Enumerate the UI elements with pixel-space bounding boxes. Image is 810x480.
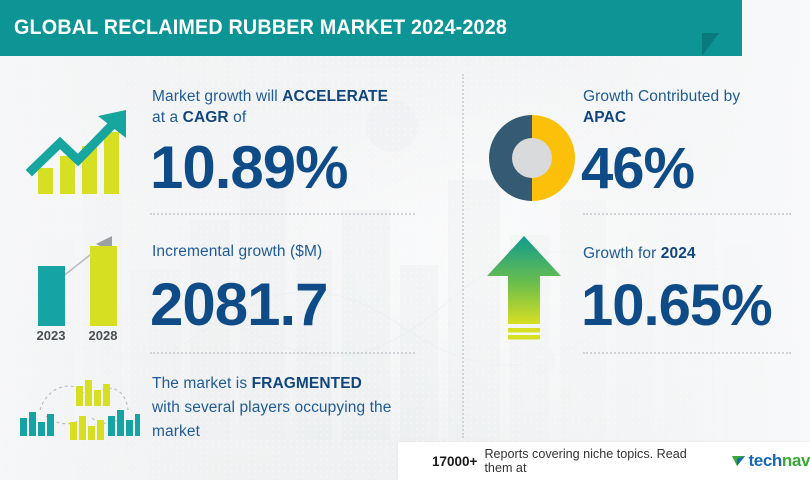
cagr-caption-line2-tail: of	[229, 109, 247, 126]
up-arrow-gradient-icon	[483, 232, 565, 342]
cagr-value: 10.89%	[150, 138, 348, 198]
apac-caption-bold: APAC	[583, 109, 626, 126]
fragmented-caption: The market is FRAGMENTED with several pl…	[152, 372, 452, 444]
divider-left-lower	[150, 352, 415, 354]
incremental-caption: Incremental growth ($M)	[152, 241, 442, 262]
growth2024-value: 10.65%	[581, 277, 772, 335]
growth2024-caption-bold: 2024	[661, 245, 696, 262]
apac-caption-plain: Growth Contributed by	[583, 88, 740, 105]
header-fold-shadow	[702, 33, 719, 56]
cagr-caption-line2-plain: at a	[152, 109, 183, 126]
city-clusters-network-icon	[14, 372, 140, 444]
growth-bar-chart-arrow-icon	[22, 98, 134, 198]
technavio-logo-text-1: tech	[749, 451, 782, 471]
footer-message: Reports covering niche topics. Read them…	[484, 447, 714, 475]
cagr-caption-line1-plain: Market growth will	[152, 88, 282, 105]
divider-left-upper	[150, 213, 415, 215]
divider-right-upper	[583, 213, 791, 215]
apac-value: 46%	[581, 140, 694, 198]
incremental-value: 2081.7	[150, 275, 328, 335]
infographic-page: GLOBAL RECLAIMED RUBBER MARKET 2024-2028…	[0, 0, 810, 480]
technavio-arrow-icon	[731, 453, 747, 469]
cagr-caption-line2-bold: CAGR	[183, 109, 229, 126]
bar-label-2023: 2023	[37, 328, 66, 343]
bar-label-2028: 2028	[89, 328, 118, 343]
growth2024-caption-plain: Growth for	[583, 245, 661, 262]
fragmented-line2: with several players occupying the	[152, 399, 391, 416]
divider-right-lower	[583, 352, 791, 354]
fragmented-line1-plain: The market is	[152, 375, 252, 392]
fragmented-line1-bold: FRAGMENTED	[252, 375, 362, 392]
footer-bar: 17000+ Reports covering niche topics. Re…	[398, 442, 810, 480]
divider-vertical-center	[462, 74, 464, 438]
fragmented-line3: market	[152, 423, 200, 440]
technavio-logo-text-2: nav	[782, 451, 810, 471]
cagr-caption-line1-bold: ACCELERATE	[282, 88, 388, 105]
apac-caption: Growth Contributed by APAC	[583, 86, 798, 128]
donut-chart-icon	[487, 113, 577, 203]
cagr-caption: Market growth will ACCELERATE at a CAGR …	[152, 86, 442, 128]
page-title: GLOBAL RECLAIMED RUBBER MARKET 2024-2028	[14, 14, 507, 42]
technavio-logo[interactable]: technav	[731, 451, 810, 471]
two-bar-comparison-icon: 2023 2028	[16, 228, 138, 346]
growth2024-caption: Growth for 2024	[583, 243, 798, 264]
footer-report-count: 17000+	[432, 454, 477, 469]
